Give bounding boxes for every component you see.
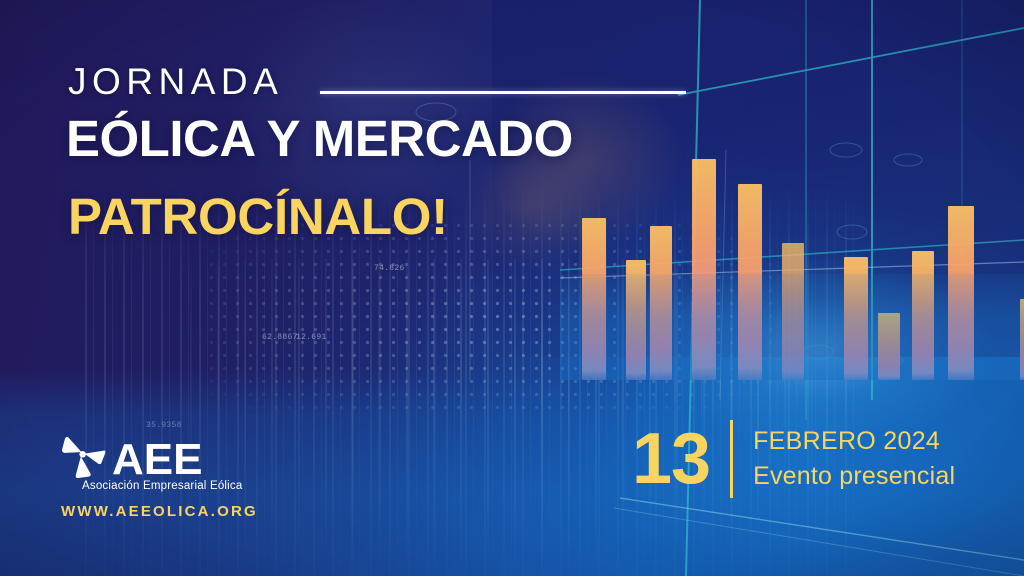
- poster-canvas: 62.8867 12.691 35.9358 74.826: [0, 0, 1024, 576]
- chart-bar-b9: [912, 251, 934, 380]
- chart-bar-b1: [582, 218, 606, 380]
- event-month-year: FEBRERO 2024: [753, 427, 955, 456]
- wind-turbine-icon: [60, 432, 106, 478]
- chart-bar-b10: [948, 206, 974, 380]
- event-details: FEBRERO 2024 Evento presencial: [753, 427, 955, 491]
- event-day: 13: [632, 426, 710, 492]
- event-date-block: 13 FEBRERO 2024 Evento presencial: [632, 420, 955, 498]
- chart-bar-b4: [692, 159, 716, 380]
- page-title: EÓLICA Y MERCADO: [66, 112, 573, 166]
- date-divider: [730, 420, 733, 498]
- chart-bar-b8: [878, 313, 900, 380]
- logo-row: AEE: [60, 432, 320, 478]
- chart-bar-b6: [782, 243, 804, 380]
- chart-bar-b7: [844, 257, 868, 380]
- eyebrow-title: JORNADA: [68, 63, 283, 100]
- bar-chart: [560, 100, 1024, 380]
- event-mode: Evento presencial: [753, 462, 955, 491]
- title-divider-rule: [320, 91, 686, 94]
- chart-bar-b11: [1020, 299, 1024, 380]
- chart-bar-b2: [626, 260, 646, 380]
- cta-text: PATROCÍNALO!: [68, 190, 448, 244]
- website-url[interactable]: WWW.AEEOLICA.ORG: [61, 503, 258, 520]
- aee-logo[interactable]: AEE Asociación Empresarial Eólica: [60, 432, 320, 494]
- chart-bar-b3: [650, 226, 672, 380]
- logo-full-name: Asociación Empresarial Eólica: [82, 480, 320, 492]
- logo-acronym: AEE: [112, 440, 202, 480]
- chart-bar-b5: [738, 184, 762, 380]
